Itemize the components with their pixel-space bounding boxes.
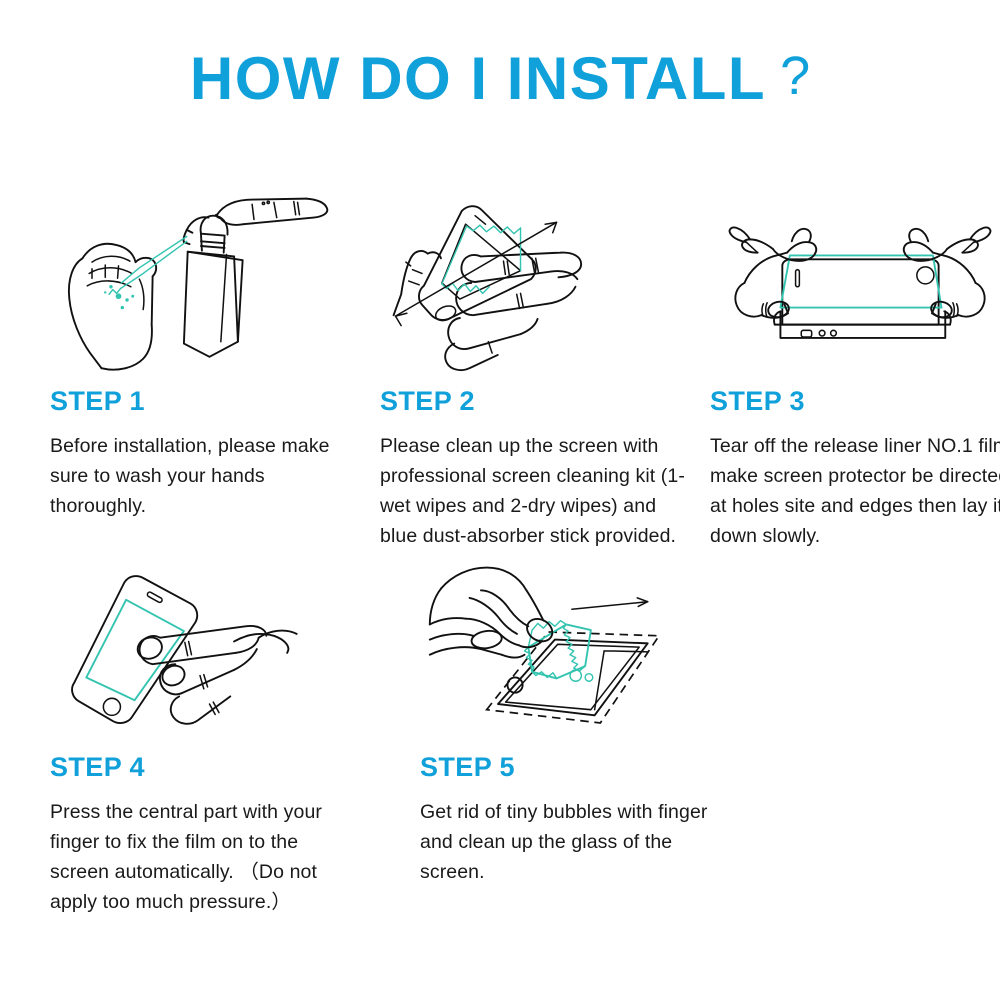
- step-2-illustration: [380, 192, 680, 372]
- pressing-finger-icon: [135, 626, 297, 724]
- tilted-phone-icon: [419, 206, 536, 323]
- step-card-4: STEP 4 Press the central part with your …: [50, 560, 360, 917]
- flat-phone-icon: [487, 632, 659, 723]
- step-card-5: STEP 5 Get rid of tiny bubbles with fing…: [420, 560, 730, 887]
- left-hand-icon: [730, 228, 817, 320]
- sweep-direction-arrow-icon: [572, 598, 648, 609]
- infographic-page: HOW DO I INSTALL?: [0, 0, 1000, 1000]
- step-4-body: Press the central part with your finger …: [50, 797, 360, 917]
- cleaning-card-icon: [525, 621, 593, 682]
- spray-stream-icon: [104, 237, 187, 310]
- steps-grid: STEP 1 Before installation, please make …: [0, 0, 1000, 1000]
- step-5-heading: STEP 5: [420, 754, 730, 781]
- receiving-hand-icon: [69, 244, 156, 370]
- step-4-illustration: [50, 560, 350, 740]
- protector-film-icon: [780, 255, 941, 307]
- step-card-1: STEP 1 Before installation, please make …: [50, 192, 360, 521]
- step-5-illustration: [420, 560, 720, 740]
- step-2-heading: STEP 2: [380, 388, 690, 415]
- step-1-text-block: STEP 1 Before installation, please make …: [50, 388, 360, 521]
- soap-bottle-icon: [184, 216, 243, 357]
- step-1-heading: STEP 1: [50, 388, 360, 415]
- step-3-text-block: STEP 3 Tear off the release liner NO.1 f…: [710, 388, 1000, 551]
- step-card-3: STEP 3 Tear off the release liner NO.1 f…: [710, 192, 1000, 551]
- wiping-hand-icon: [394, 251, 582, 370]
- step-1-illustration: [50, 192, 350, 372]
- sweeping-hand-icon: [430, 568, 557, 658]
- step-4-heading: STEP 4: [50, 754, 360, 781]
- step-2-text-block: STEP 2 Please clean up the screen with p…: [380, 388, 690, 551]
- landscape-phone-icon: [774, 259, 951, 338]
- step-3-heading: STEP 3: [710, 388, 1000, 415]
- step-2-body: Please clean up the screen with professi…: [380, 431, 690, 551]
- pressing-hand-icon: [216, 199, 328, 225]
- step-3-illustration: [710, 192, 1000, 372]
- step-1-body: Before installation, please make sure to…: [50, 431, 360, 521]
- step-5-text-block: STEP 5 Get rid of tiny bubbles with fing…: [420, 754, 730, 887]
- step-4-text-block: STEP 4 Press the central part with your …: [50, 754, 360, 917]
- step-5-body: Get rid of tiny bubbles with finger and …: [420, 797, 730, 887]
- step-3-body: Tear off the release liner NO.1 film, ma…: [710, 431, 1000, 551]
- step-card-2: STEP 2 Please clean up the screen with p…: [380, 192, 690, 551]
